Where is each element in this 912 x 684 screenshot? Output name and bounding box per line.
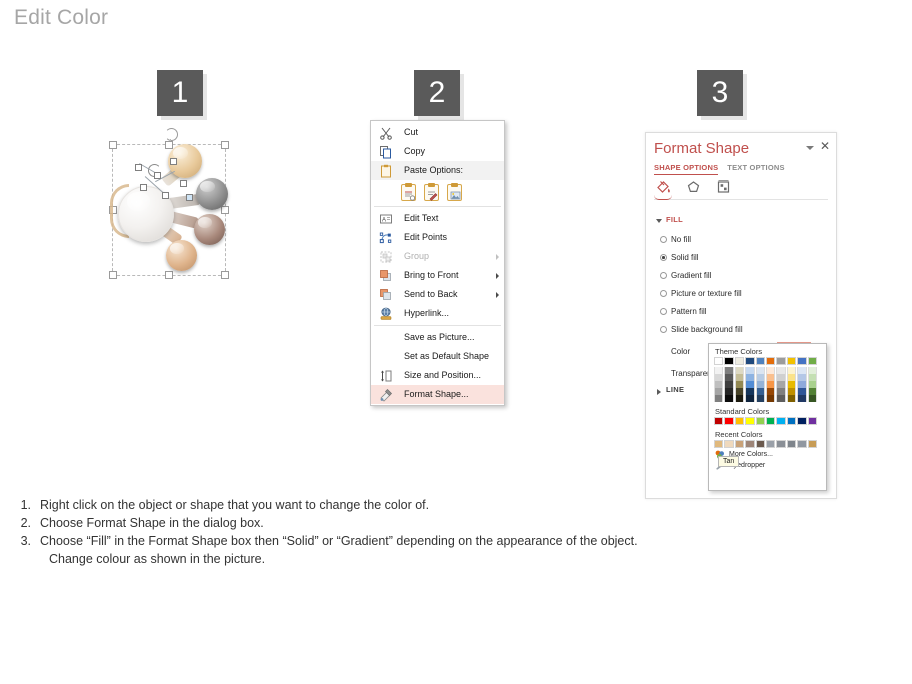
menu-item-label: Edit Points [404,232,447,242]
menu-item-save-as-picture[interactable]: Save as Picture... [371,328,504,347]
theme-tint-4-9[interactable] [808,395,817,402]
theme-tint-2-0[interactable] [714,381,723,388]
theme-tint-1-7[interactable] [787,374,796,381]
fill-option-pattern-fill[interactable]: Pattern fill [671,306,707,318]
theme-tint-row-0[interactable] [709,365,826,374]
menu-item-label: Copy [404,146,425,156]
theme-tint-3-7[interactable] [787,388,796,395]
theme-tint-1-6[interactable] [776,374,785,381]
section-line-header[interactable]: LINE [666,385,684,394]
fill-option-picture-or-texture-fill[interactable]: Picture or texture fill [671,288,742,300]
submenu-arrow-icon [496,273,499,279]
radio-icon[interactable] [660,236,667,243]
instructions-list: 1. Right click on the object or shape th… [10,497,900,568]
theme-tint-2-1[interactable] [724,381,733,388]
shape-effects-icon[interactable] [685,179,702,197]
theme-swatch-8[interactable] [797,357,806,365]
theme-tint-2-5[interactable] [766,381,775,388]
menu-item-paste-options: Paste Options: [371,161,504,180]
theme-tint-0-5[interactable] [766,367,775,374]
menu-item-bring-to-front[interactable]: Bring to Front [371,266,504,285]
theme-tint-row-4[interactable] [709,395,826,402]
edit-points-overlay [128,146,194,202]
selection-handle-nw[interactable] [109,141,117,149]
fill-option-no-fill[interactable]: No fill [671,234,691,246]
recent-swatch-6[interactable] [776,440,785,448]
paste-keep-source-icon[interactable] [401,184,416,201]
fill-option-solid-fill[interactable]: Solid fill [671,252,699,264]
theme-swatch-4[interactable] [756,357,765,365]
paste-merge-icon[interactable] [424,184,439,201]
standard-swatch-3[interactable] [745,417,754,425]
theme-tint-3-6[interactable] [776,388,785,395]
radio-icon-selected[interactable] [660,254,667,261]
theme-tint-4-5[interactable] [766,395,775,402]
section-fill-header[interactable]: FILL [666,215,683,224]
menu-item-label: Set as Default Shape [404,351,489,361]
step-badge-3: 3 [697,70,743,116]
selection-handle-e[interactable] [221,206,229,214]
standard-colors-row[interactable] [709,417,826,425]
theme-tint-4-0[interactable] [714,395,723,402]
theme-tint-row-3[interactable] [709,388,826,395]
vector-point[interactable] [135,164,142,171]
theme-tint-0-9[interactable] [808,367,817,374]
radio-icon[interactable] [660,272,667,279]
theme-tint-1-5[interactable] [766,374,775,381]
context-menu[interactable]: Cut Copy Paste Options: [370,120,505,406]
instruction-text: Right click on the object or shape that … [40,497,900,514]
menu-item-set-as-default-shape[interactable]: Set as Default Shape [371,347,504,366]
format-shape-icon [379,388,393,402]
selected-shape-graphic[interactable] [104,128,232,280]
theme-tint-3-2[interactable] [735,388,744,395]
standard-swatch-6[interactable] [776,417,785,425]
theme-tint-4-8[interactable] [797,395,806,402]
bring-to-front-icon [379,269,393,283]
theme-swatch-1[interactable] [724,357,733,365]
theme-tint-1-9[interactable] [808,374,817,381]
standard-swatch-5[interactable] [766,417,775,425]
theme-tint-3-0[interactable] [714,388,723,395]
theme-tint-4-4[interactable] [756,395,765,402]
theme-tint-2-9[interactable] [808,381,817,388]
theme-tint-4-2[interactable] [735,395,744,402]
instruction-number: 1. [10,497,40,514]
recent-colors-row[interactable] [709,440,826,448]
standard-swatch-1[interactable] [724,417,733,425]
recent-swatch-3[interactable] [745,440,754,448]
standard-swatch-4[interactable] [756,417,765,425]
menu-item-label: Format Shape... [404,389,469,399]
vector-point[interactable] [170,158,177,165]
theme-swatch-7[interactable] [787,357,796,365]
selection-handle-ne[interactable] [221,141,229,149]
vector-point[interactable] [180,180,187,187]
menu-separator [374,325,501,326]
format-shape-tabs[interactable]: SHAPE OPTIONS TEXT OPTIONS [654,163,785,175]
menu-item-group: Group [371,247,504,266]
standard-swatch-0[interactable] [714,417,723,425]
recent-colors-heading: Recent Colors [709,425,826,440]
theme-tint-0-1[interactable] [724,367,733,374]
theme-tint-0-8[interactable] [797,367,806,374]
clipboard-icon [379,164,393,178]
theme-tint-2-3[interactable] [745,381,754,388]
menu-item-label: Send to Back [404,289,458,299]
theme-tint-1-1[interactable] [724,374,733,381]
hyperlink-icon [379,307,393,321]
theme-tint-3-5[interactable] [766,388,775,395]
theme-tint-3-4[interactable] [756,388,765,395]
step-badge-2: 2 [414,70,460,116]
menu-item-hyperlink[interactable]: Hyperlink... [371,304,504,323]
theme-tint-1-3[interactable] [745,374,754,381]
svg-text:A: A [382,218,386,224]
color-tooltip: Tan [718,456,739,467]
menu-item-label: Edit Text [404,213,438,223]
radio-icon[interactable] [660,326,667,333]
menu-item-size-and-position[interactable]: Size and Position... [371,366,504,385]
scissors-icon [379,126,393,140]
menu-item-label: Group [404,251,429,261]
menu-item-label: Size and Position... [404,370,481,380]
fill-expand-icon[interactable] [656,219,662,223]
instruction-item: 3. Choose “Fill” in the Format Shape box… [10,533,900,550]
theme-tint-2-7[interactable] [787,381,796,388]
step-badge-1: 1 [157,70,203,116]
theme-colors-base-row[interactable] [709,357,826,365]
line-expand-icon[interactable] [657,389,661,395]
page-title: Edit Color [14,6,108,30]
fill-option-label: Gradient fill [671,271,711,280]
standard-colors-heading: Standard Colors [709,402,826,417]
submenu-arrow-icon [496,292,499,298]
theme-swatch-3[interactable] [745,357,754,365]
instruction-number: 2. [10,515,40,532]
shape-node-peach[interactable] [166,240,197,271]
theme-tint-4-6[interactable] [776,395,785,402]
tab-text-options[interactable]: TEXT OPTIONS [727,163,784,175]
theme-tint-2-4[interactable] [756,381,765,388]
menu-item-send-to-back[interactable]: Send to Back [371,285,504,304]
fill-option-slide-background-fill[interactable]: Slide background fill [671,324,743,336]
fill-option-label: Picture or texture fill [671,289,742,298]
recent-swatch-0[interactable] [714,440,723,448]
fill-option-label: No fill [671,235,691,244]
instruction-text: Choose Format Shape in the dialog box. [40,515,900,532]
theme-tint-2-6[interactable] [776,381,785,388]
theme-swatch-0[interactable] [714,357,723,365]
size-position-icon [379,369,393,383]
recent-swatch-9[interactable] [808,440,817,448]
fill-option-gradient-fill[interactable]: Gradient fill [671,270,711,282]
theme-tint-4-7[interactable] [787,395,796,402]
vector-point-active[interactable] [186,194,193,201]
standard-swatch-8[interactable] [797,417,806,425]
theme-tint-3-1[interactable] [724,388,733,395]
vector-point[interactable] [140,184,147,191]
menu-separator [374,206,501,207]
theme-tint-3-8[interactable] [797,388,806,395]
instruction-item: 1. Right click on the object or shape th… [10,497,900,514]
recent-swatch-5[interactable] [766,440,775,448]
standard-swatch-7[interactable] [787,417,796,425]
paste-options-row[interactable] [371,180,504,204]
theme-tint-0-6[interactable] [776,367,785,374]
theme-tint-4-3[interactable] [745,395,754,402]
theme-tint-4-1[interactable] [724,395,733,402]
theme-tint-0-4[interactable] [756,367,765,374]
paste-picture-icon[interactable] [447,184,462,201]
theme-swatch-2[interactable] [735,357,744,365]
group-icon [379,250,393,264]
theme-tint-2-8[interactable] [797,381,806,388]
theme-tint-1-4[interactable] [756,374,765,381]
theme-tint-0-2[interactable] [735,367,744,374]
menu-item-label: Paste Options: [404,165,463,175]
menu-item-label: Hyperlink... [404,308,449,318]
instruction-number: 3. [10,533,40,550]
menu-item-label: Save as Picture... [404,332,475,342]
vector-point[interactable] [162,192,169,199]
copy-icon [379,145,393,159]
theme-tint-0-0[interactable] [714,367,723,374]
fill-option-label: Solid fill [671,253,699,262]
close-icon[interactable]: ✕ [820,140,830,152]
menu-item-label: Cut [404,127,418,137]
standard-swatch-2[interactable] [735,417,744,425]
format-shape-title: Format Shape [654,140,749,157]
menu-item-edit-points[interactable]: Edit Points [371,228,504,247]
tab-shape-options[interactable]: SHAPE OPTIONS [654,163,718,175]
radio-icon[interactable] [660,308,667,315]
theme-swatch-6[interactable] [776,357,785,365]
edit-points-icon [379,231,393,245]
chevron-down-icon[interactable] [806,146,814,150]
rotate-handle-icon[interactable] [165,128,178,141]
theme-colors-tint-rows[interactable] [709,365,826,402]
menu-item-cut[interactable]: Cut [371,123,504,142]
instruction-item: 2. Choose Format Shape in the dialog box… [10,515,900,532]
theme-tint-1-8[interactable] [797,374,806,381]
pane-divider [654,199,828,200]
vector-point[interactable] [154,172,161,179]
recent-swatch-8[interactable] [797,440,806,448]
theme-tint-2-2[interactable] [735,381,744,388]
menu-item-format-shape[interactable]: Format Shape... [371,385,504,404]
color-label: Color [671,347,690,356]
instruction-text: Choose “Fill” in the Format Shape box th… [40,533,900,550]
selection-handle-se[interactable] [221,271,229,279]
selection-handle-sw[interactable] [109,271,117,279]
theme-tint-row-1[interactable] [709,374,826,381]
menu-item-copy[interactable]: Copy [371,142,504,161]
theme-swatch-5[interactable] [766,357,775,365]
recent-swatch-7[interactable] [787,440,796,448]
recent-swatch-2[interactable] [735,440,744,448]
theme-colors-heading: Theme Colors [709,344,826,357]
selection-handle-s[interactable] [165,271,173,279]
color-picker-dropdown[interactable]: Theme Colors Standard Colors Recent Colo… [708,343,827,491]
menu-item-edit-text[interactable]: A Edit Text [371,209,504,228]
standard-swatch-9[interactable] [808,417,817,425]
theme-tint-1-2[interactable] [735,374,744,381]
recent-swatch-1[interactable] [724,440,733,448]
theme-tint-3-3[interactable] [745,388,754,395]
size-properties-icon[interactable] [715,179,732,197]
theme-tint-1-0[interactable] [714,374,723,381]
menu-item-label: Bring to Front [404,270,459,280]
theme-tint-row-2[interactable] [709,381,826,388]
theme-tint-3-9[interactable] [808,388,817,395]
fill-option-label: Slide background fill [671,325,743,334]
send-to-back-icon [379,288,393,302]
fill-option-label: Pattern fill [671,307,707,316]
theme-tint-0-3[interactable] [745,367,754,374]
submenu-arrow-icon [496,254,499,260]
shape-node-gray[interactable] [196,178,228,210]
edit-text-icon: A [379,212,393,226]
instruction-continuation: Change colour as shown in the picture. [10,551,900,568]
recent-swatch-4[interactable] [756,440,765,448]
theme-swatch-9[interactable] [808,357,817,365]
theme-tint-0-7[interactable] [787,367,796,374]
radio-icon[interactable] [660,290,667,297]
shape-node-brown[interactable] [194,214,225,245]
